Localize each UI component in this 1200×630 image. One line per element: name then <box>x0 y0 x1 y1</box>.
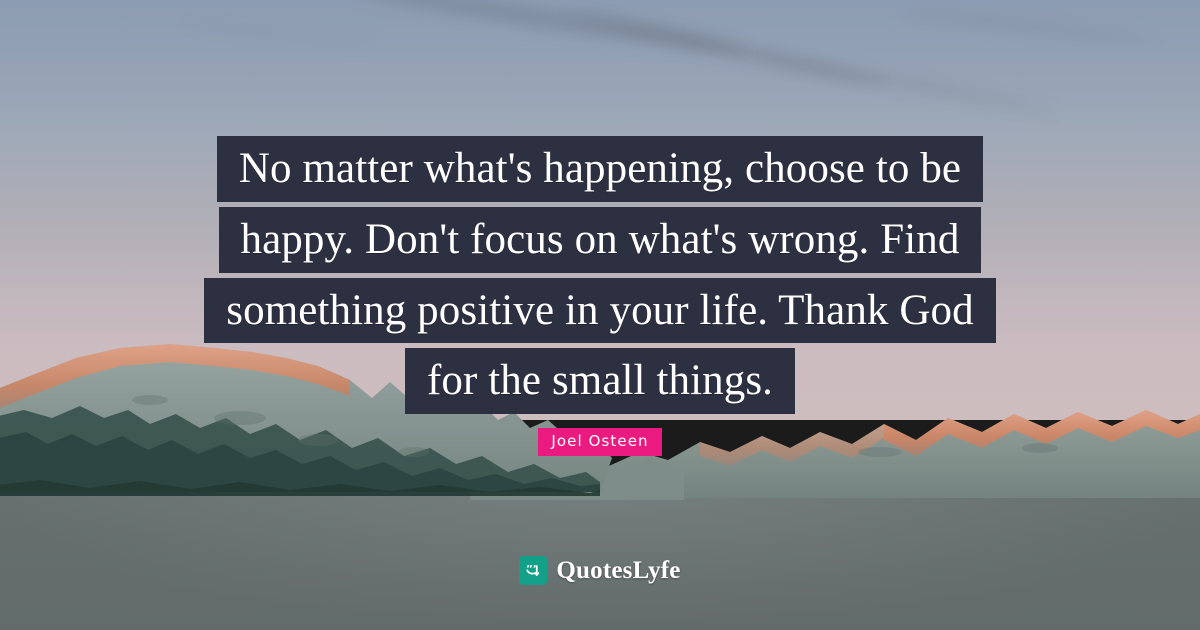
quote-card: No matter what's happening, choose to be… <box>0 0 1200 630</box>
author-name-badge[interactable]: Joel Osteen <box>538 428 661 456</box>
brand-name-text: QuotesLyfe <box>556 557 680 585</box>
quote-line: No matter what's happening, choose to be <box>0 136 1200 202</box>
quote-line-text: No matter what's happening, choose to be <box>217 136 983 202</box>
quote-line: something positive in your life. Thank G… <box>0 278 1200 344</box>
quote-text-block: No matter what's happening, choose to be… <box>0 136 1200 419</box>
quote-line-text: something positive in your life. Thank G… <box>204 278 995 344</box>
author-attribution: Joel Osteen <box>0 428 1200 456</box>
quote-line: for the small things. <box>0 348 1200 414</box>
quote-line-text: happy. Don't focus on what's wrong. Find <box>219 207 982 273</box>
quote-smiley-icon <box>519 556 547 585</box>
quote-line-text: for the small things. <box>405 348 795 414</box>
quote-line: happy. Don't focus on what's wrong. Find <box>0 207 1200 273</box>
brand-watermark[interactable]: QuotesLyfe <box>0 556 1200 585</box>
